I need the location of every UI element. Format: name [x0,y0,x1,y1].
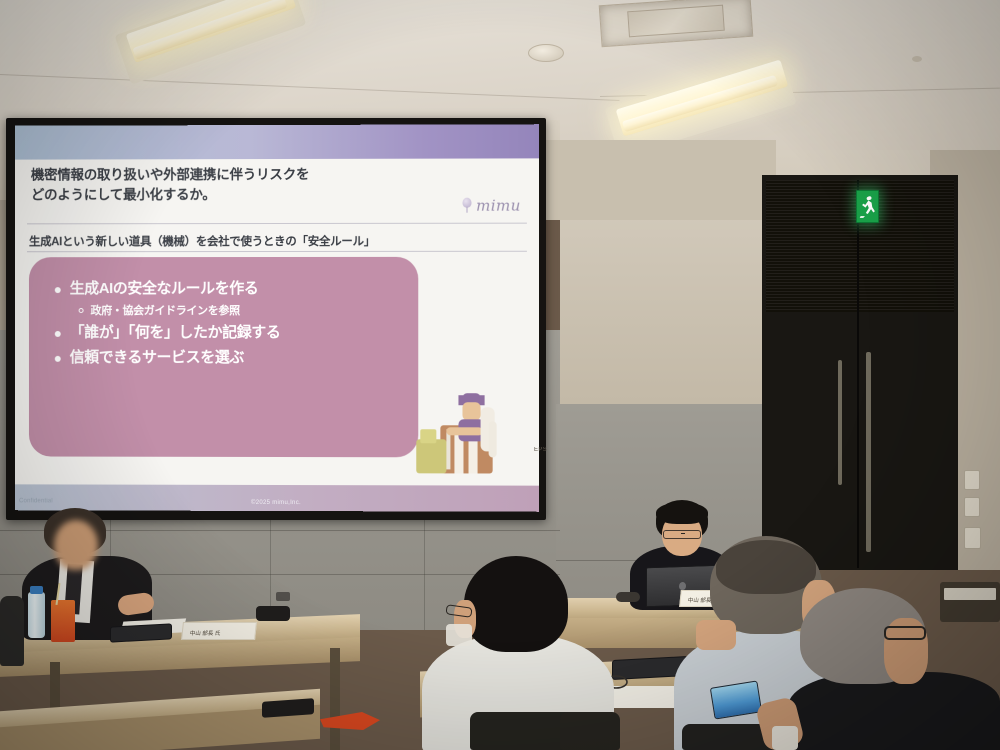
juice-carton[interactable] [51,600,75,642]
audience-2-hair-top [716,540,816,594]
projection-screen-frame: 機密情報の取り扱いや外部連携に伴うリスクを どのようにして最小化するか。 mim… [6,118,546,520]
slide-heading-line2: どのようにして最小化するか。 [31,184,450,204]
bottle-cap[interactable] [30,586,43,594]
table-leg [330,648,340,750]
audience-1-mask [446,624,472,646]
bullet-text: 生成AIの安全なルールを作る [70,279,259,299]
list-item-sub: 政府・協会ガイドラインを参照 [79,302,405,318]
list-item: 信頼できるサービスを選ぶ [55,347,404,367]
sub-bullet-circle-icon [79,308,84,313]
water-bottle[interactable] [28,592,45,638]
slide-divider [27,223,527,225]
audience-member-3 [788,588,1000,750]
meeting-room-photo: 機密情報の取り扱いや外部連携に伴うリスクを どのようにして最小化するか。 mim… [0,0,1000,750]
slide-bullet-list: 生成AIの安全なルールを作る 政府・協会ガイドラインを参照 「誰が」「何を」した… [55,279,404,372]
emergency-exit-sign [856,190,879,223]
bullet-text: 「誰が」「何を」したか記録する [70,323,281,343]
smoke-detector-icon [528,44,564,62]
presenter-mouse[interactable] [616,592,640,602]
list-item: 「誰が」「何を」したか記録する [55,323,404,343]
bullet-text: 信頼できるサービスを選ぶ [70,347,244,367]
desk-object-dark[interactable] [256,606,290,621]
mimu-logo: mimu [462,197,521,215]
slide-confidential-label: Confidential [19,498,53,504]
panelist-nameplate: 中山 部長 氏 [181,622,257,640]
tablet-device[interactable] [110,623,172,642]
lightbulb-icon [462,198,473,214]
wall-switch-plate-2[interactable] [964,497,980,517]
panelist-head-blurred [54,520,98,570]
presenter-hair-top [656,502,708,524]
slide-heading: 機密情報の取り扱いや外部連携に伴うリスクを どのようにして最小化するか。 [31,165,450,205]
door-split-line [857,180,859,568]
slide-content-box: 生成AIの安全なルールを作る 政府・協会ガイドラインを参照 「誰が」「何を」した… [29,257,418,457]
audience-3-glasses-icon [884,626,926,640]
door-handle-right[interactable] [866,352,871,552]
bullet-dot-icon [55,355,61,361]
list-item: 生成AIの安全なルールを作る [55,279,404,299]
wall-above-doors [546,140,776,220]
slide-heading-line1: 機密情報の取り扱いや外部連携に伴うリスクを [31,165,450,185]
worker-machine-illustration [402,377,521,486]
cup-on-table[interactable] [772,726,798,750]
wall-switch-plate-1[interactable] [964,470,980,490]
running-man-icon [858,192,878,222]
presenter-glasses-bridge [681,533,685,534]
panelist-chair [0,596,24,666]
door-handle-left[interactable] [838,360,842,485]
audience-1-hair [464,556,568,652]
bullet-dot-icon [55,287,61,293]
slide-subheading: 生成AIという新しい道具（機械）を会社で使うときの「安全ルール」 [29,233,519,250]
logo-text: mimu [476,197,521,215]
audience-3-shirt [788,672,1000,750]
audience-2-neck [696,620,736,650]
ceiling-fixture-dot [912,56,922,62]
slide-top-band [15,124,539,159]
slide-divider [27,251,527,252]
nameplate-text: 中山 部長 氏 [189,629,220,637]
chair-back-near [560,712,620,750]
projection-screen: 機密情報の取り扱いや外部連携に伴うリスクを どのようにして最小化するか。 mim… [15,124,539,512]
presentation-slide: 機密情報の取り扱いや外部連携に伴うリスクを どのようにして最小化するか。 mim… [15,124,539,512]
wall-sign-eps: EPS [534,447,547,453]
wall-outlet [276,592,290,601]
wall-outlet-plate[interactable] [964,527,981,549]
bullet-dot-icon [55,331,61,337]
orange-object-on-table[interactable] [320,712,380,730]
sub-bullet-text: 政府・協会ガイドラインを参照 [91,302,240,318]
